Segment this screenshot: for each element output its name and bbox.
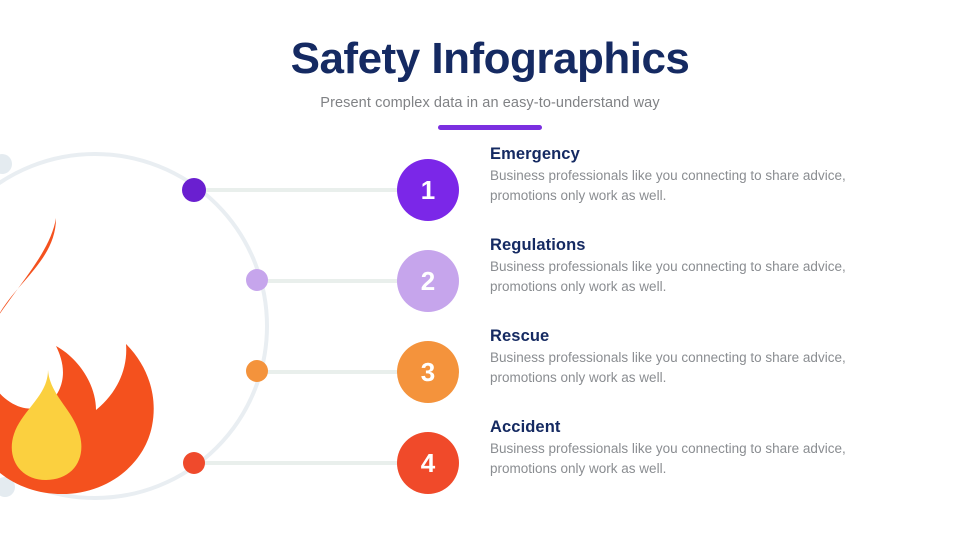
item-text-block-2: Regulations Business professionals like … — [490, 236, 902, 296]
item-number-1: 1 — [421, 177, 435, 203]
list-item[interactable]: 3 Rescue Business professionals like you… — [397, 341, 937, 403]
item-number-4: 4 — [421, 450, 435, 476]
item-number-badge-4[interactable]: 4 — [397, 432, 459, 494]
item-number-2: 2 — [421, 268, 435, 294]
title-accent-bar — [438, 125, 542, 130]
item-description-1: Business professionals like you connecti… — [490, 166, 902, 205]
list-item[interactable]: 2 Regulations Business professionals lik… — [397, 250, 937, 312]
connector-line-1 — [200, 188, 400, 192]
item-description-2: Business professionals like you connecti… — [490, 257, 902, 296]
slide-header: Safety Infographics Present complex data… — [0, 36, 980, 130]
item-number-badge-3[interactable]: 3 — [397, 341, 459, 403]
item-title-4: Accident — [490, 418, 902, 437]
item-description-4: Business professionals like you connecti… — [490, 439, 902, 478]
item-number-3: 3 — [421, 359, 435, 385]
item-description-3: Business professionals like you connecti… — [490, 348, 902, 387]
ring-node-dot-3[interactable] — [246, 360, 268, 382]
item-text-block-4: Accident Business professionals like you… — [490, 418, 902, 478]
item-text-block-1: Emergency Business professionals like yo… — [490, 145, 902, 205]
item-number-badge-1[interactable]: 1 — [397, 159, 459, 221]
ring-dot-top-left — [0, 154, 12, 174]
ring-node-dot-4[interactable] — [183, 452, 205, 474]
connector-line-4 — [200, 461, 400, 465]
page-subtitle: Present complex data in an easy-to-under… — [0, 95, 980, 111]
connector-line-2 — [263, 279, 400, 283]
flame-icon — [0, 218, 154, 494]
page-title: Safety Infographics — [0, 36, 980, 82]
item-text-block-3: Rescue Business professionals like you c… — [490, 327, 902, 387]
item-title-1: Emergency — [490, 145, 902, 164]
connector-line-3 — [263, 370, 400, 374]
ring-node-dot-2[interactable] — [246, 269, 268, 291]
list-item[interactable]: 4 Accident Business professionals like y… — [397, 432, 937, 494]
list-item[interactable]: 1 Emergency Business professionals like … — [397, 159, 937, 221]
ring-node-dot-1[interactable] — [182, 178, 206, 202]
item-number-badge-2[interactable]: 2 — [397, 250, 459, 312]
flame-illustration — [0, 148, 270, 504]
item-title-2: Regulations — [490, 236, 902, 255]
item-title-3: Rescue — [490, 327, 902, 346]
infographic-slide: Safety Infographics Present complex data… — [0, 0, 980, 551]
